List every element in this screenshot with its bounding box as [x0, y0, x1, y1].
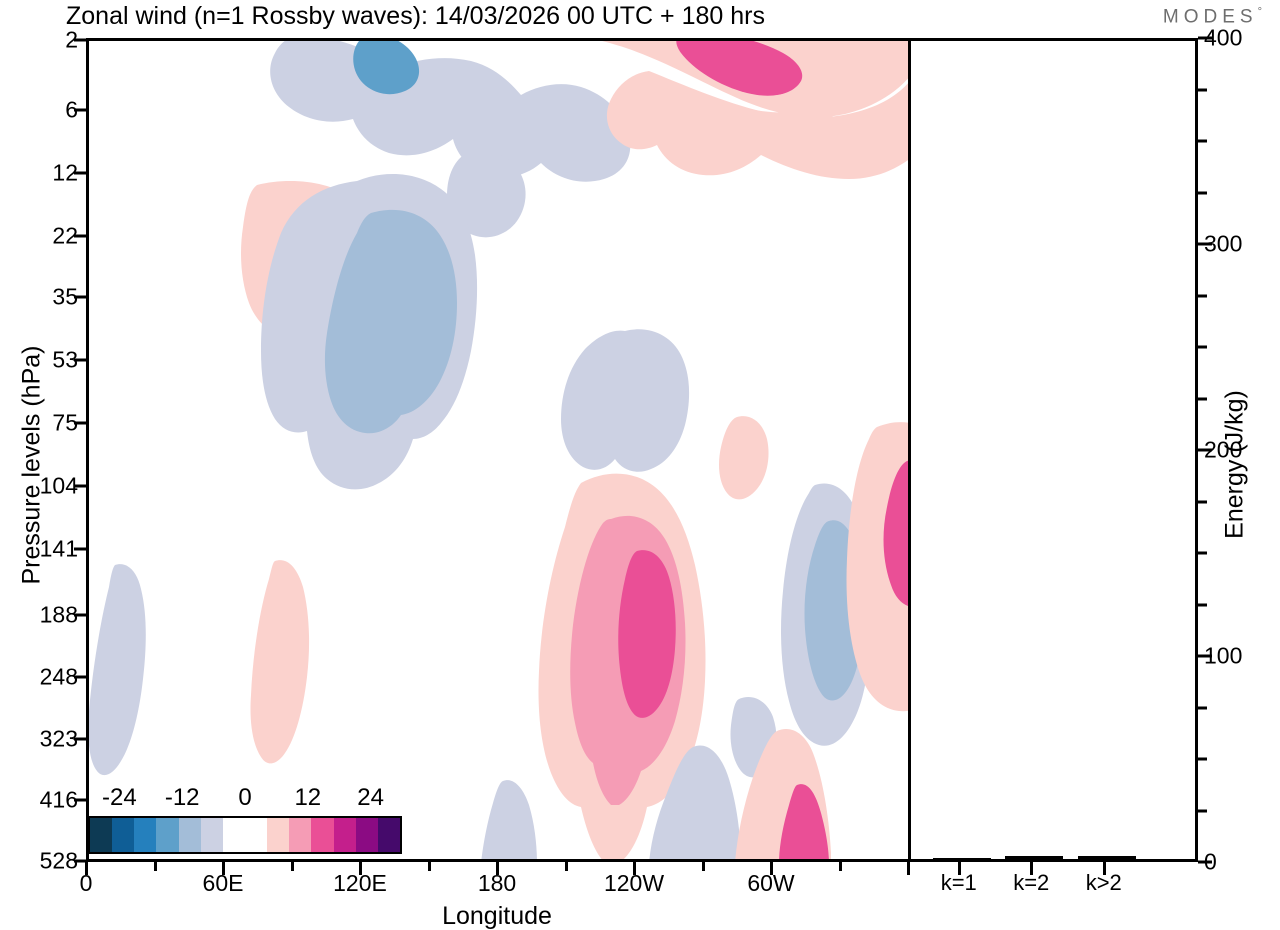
colorbar-swatch [134, 818, 156, 852]
energy-axis-label: Energy (J/kg) [1221, 315, 1250, 615]
y-axis-tick-label: 188 [0, 602, 78, 629]
x-axis-tick-mark [633, 862, 636, 875]
x-axis-label: Longitude [86, 902, 908, 930]
x-axis-tick-mark [702, 862, 705, 871]
energy-axis-tick-mark [1198, 397, 1207, 400]
energy-axis-tick-mark [1198, 37, 1212, 40]
y-axis-tick-label: 35 [0, 284, 78, 311]
page-title: Zonal wind (n=1 Rossby waves): 14/03/202… [66, 2, 765, 31]
y-axis-tick-mark [74, 799, 86, 802]
energy-category-tick-mark [958, 862, 961, 875]
y-axis-tick-mark [74, 485, 86, 488]
energy-bar [933, 858, 991, 859]
y-axis-tick-label: 416 [0, 787, 78, 814]
x-axis-tick-mark [85, 862, 88, 875]
energy-category-tick-mark [1030, 862, 1033, 875]
energy-panel [908, 38, 1198, 862]
contour-band-neg-weak [270, 41, 630, 182]
y-axis-tick-label: 2 [0, 27, 78, 54]
modes-logo-degree: ° [1258, 6, 1262, 18]
x-axis-tick-mark [496, 862, 499, 875]
y-axis-tick-label: 104 [0, 473, 78, 500]
y-axis-tick-label: 6 [0, 97, 78, 124]
energy-axis-tick-mark [1198, 243, 1212, 246]
colorbar-swatch [267, 818, 289, 852]
colorbar-swatch [90, 818, 112, 852]
x-axis-tick-mark [359, 862, 362, 875]
y-axis-tick-mark [74, 172, 86, 175]
energy-bar [1005, 856, 1063, 859]
y-axis-tick-mark [74, 614, 86, 617]
colorbar-swatch [356, 818, 378, 852]
y-axis-tick-mark [74, 676, 86, 679]
x-axis-tick-mark [565, 862, 568, 871]
y-axis-tick-label: 141 [0, 536, 78, 563]
y-axis-tick-mark [74, 359, 86, 362]
energy-axis-tick-mark [1198, 861, 1212, 864]
colorbar-swatch [201, 818, 223, 852]
y-axis-tick-label: 22 [0, 223, 78, 250]
x-axis-tick-mark [907, 862, 910, 875]
x-axis-tick-mark [291, 862, 294, 871]
colorbar-swatch [179, 818, 201, 852]
y-axis-tick-mark [74, 548, 86, 551]
contour-band-pos-weak [250, 560, 309, 763]
colorbar [88, 816, 402, 854]
colorbar-tick-label: -12 [165, 784, 200, 812]
colorbar-swatch [311, 818, 333, 852]
y-axis-tick-label: 323 [0, 726, 78, 753]
y-axis-tick-label: 75 [0, 410, 78, 437]
energy-axis-tick-mark [1198, 603, 1207, 606]
x-axis-tick-mark [428, 862, 431, 871]
colorbar-swatch [112, 818, 134, 852]
colorbar-tick-label: 24 [357, 784, 384, 812]
energy-axis-tick-mark [1198, 758, 1207, 761]
energy-axis-tick-mark [1198, 809, 1207, 812]
x-axis-tick-mark [154, 862, 157, 871]
colorbar-swatch [289, 818, 311, 852]
energy-axis-tick-mark [1198, 88, 1207, 91]
energy-axis-tick-mark [1198, 449, 1212, 452]
y-axis-tick-label: 53 [0, 347, 78, 374]
contour-band-neg-weak [561, 329, 689, 471]
y-axis-tick-mark [74, 296, 86, 299]
contour-band-neg-weak [481, 780, 537, 859]
x-axis-tick-mark [839, 862, 842, 871]
colorbar-swatch [334, 818, 356, 852]
y-axis-tick-mark [74, 39, 86, 42]
energy-category-tick-mark [1103, 862, 1106, 875]
y-axis-tick-mark [74, 422, 86, 425]
x-axis-tick-mark [222, 862, 225, 875]
y-axis-tick-mark [74, 109, 86, 112]
contour-band-pos-weak [719, 416, 769, 499]
energy-axis-tick-mark [1198, 140, 1207, 143]
y-axis-tick-mark [74, 235, 86, 238]
contour-field [89, 41, 908, 859]
colorbar-tick-label: 12 [294, 784, 321, 812]
energy-axis-tick-mark [1198, 191, 1207, 194]
colorbar-tick-label: 0 [238, 784, 251, 812]
energy-axis-tick-mark [1198, 706, 1207, 709]
colorbar-swatch [223, 818, 267, 852]
energy-axis-tick-mark [1198, 500, 1207, 503]
colorbar-swatch [156, 818, 178, 852]
energy-axis-tick-mark [1198, 346, 1207, 349]
y-axis-tick-label: 12 [0, 160, 78, 187]
chart-page: Zonal wind (n=1 Rossby waves): 14/03/202… [0, 0, 1280, 930]
y-axis-tick-mark [74, 738, 86, 741]
colorbar-swatch [378, 818, 400, 852]
x-axis-tick-mark [770, 862, 773, 875]
energy-axis-tick-mark [1198, 552, 1207, 555]
y-axis-tick-label: 248 [0, 664, 78, 691]
energy-axis-tick-mark [1198, 655, 1212, 658]
colorbar-tick-label: -24 [102, 784, 137, 812]
energy-bar [1078, 856, 1136, 859]
energy-axis-tick-mark [1198, 294, 1207, 297]
contour-band-neg-weak [89, 564, 146, 775]
contour-plot-panel [86, 38, 908, 862]
y-axis-tick-label: 528 [0, 848, 78, 875]
